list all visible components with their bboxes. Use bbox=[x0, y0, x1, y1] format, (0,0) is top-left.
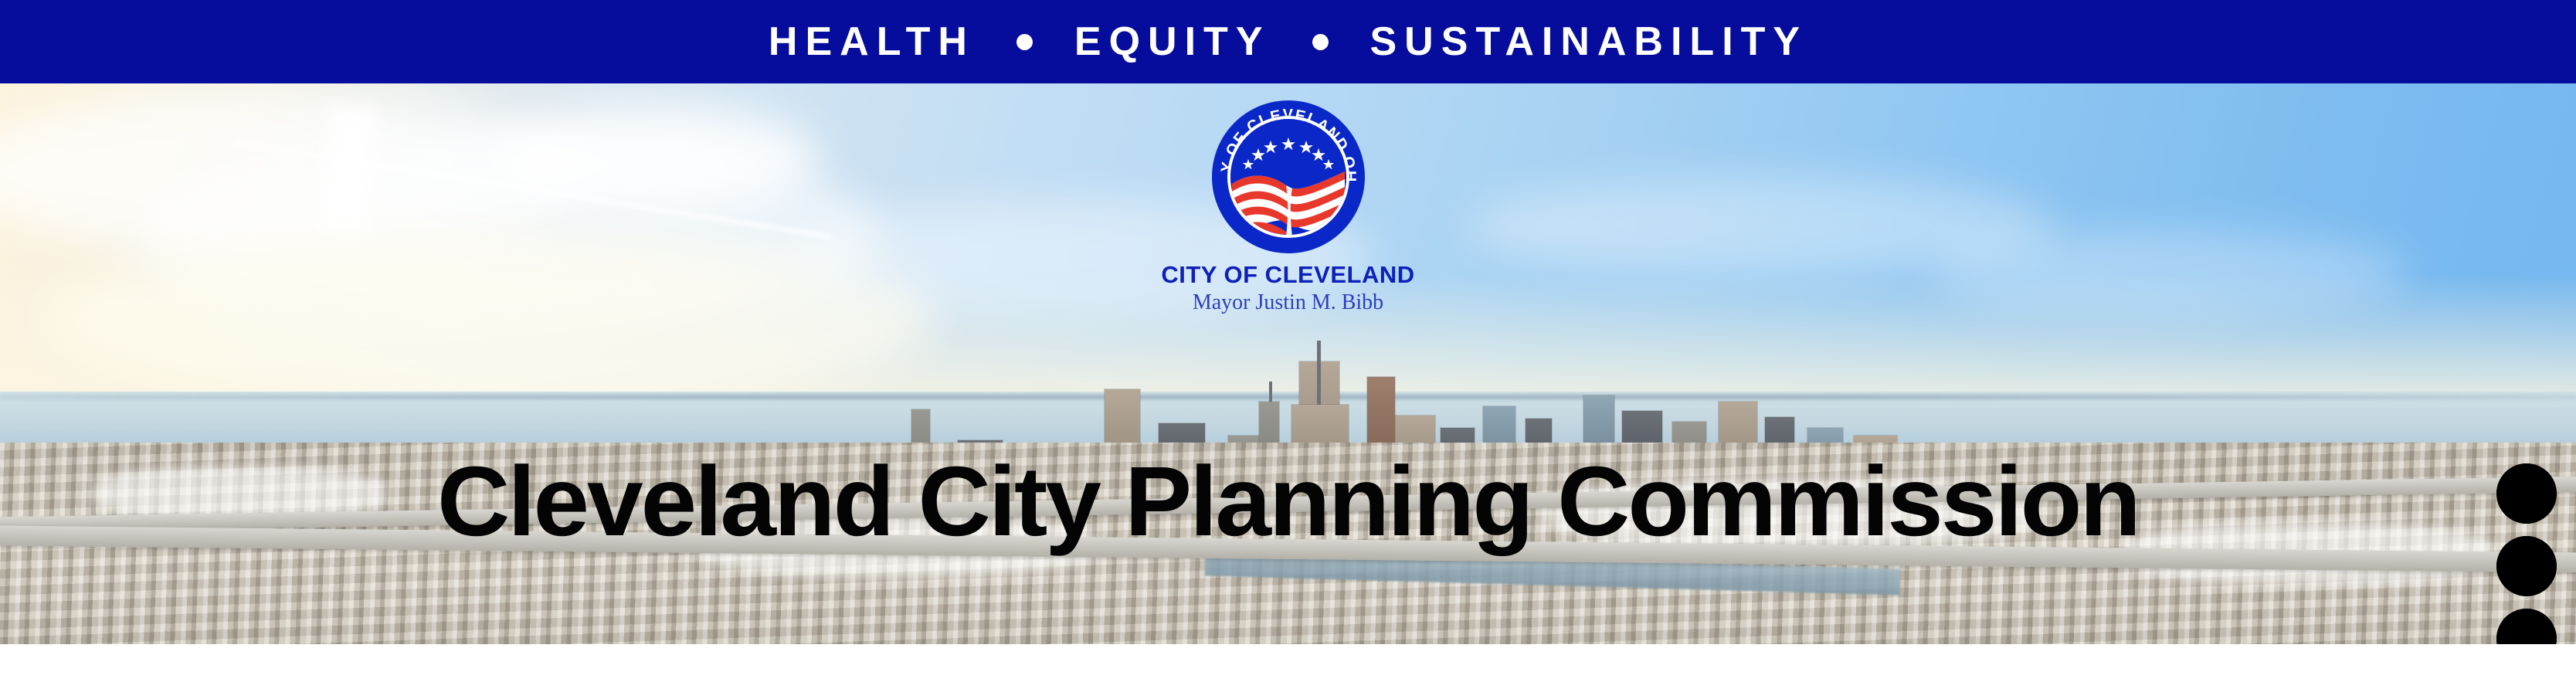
tagline-inner: HEALTH EQUITY SUSTAINABILITY bbox=[769, 22, 1807, 62]
cloud bbox=[1931, 230, 2410, 315]
hero-photo: CITY OF CLEVELAND OHIO bbox=[0, 83, 2576, 644]
instagram-link[interactable] bbox=[2496, 536, 2557, 596]
page-title: Cleveland City Planning Commission bbox=[0, 453, 2576, 551]
city-logo-lockup[interactable]: CITY OF CLEVELAND OHIO bbox=[1088, 100, 1489, 314]
city-seal-icon: CITY OF CLEVELAND OHIO bbox=[1212, 100, 1365, 253]
social-links bbox=[2496, 463, 2557, 644]
tagline-word-equity: EQUITY bbox=[1074, 22, 1271, 62]
bullet-dot-icon bbox=[1312, 34, 1329, 50]
bullet-dot-icon bbox=[1016, 34, 1033, 50]
youtube-icon bbox=[2496, 463, 2557, 524]
instagram-icon bbox=[2496, 536, 2557, 596]
youtube-link[interactable] bbox=[2496, 463, 2557, 524]
tagline-band: HEALTH EQUITY SUSTAINABILITY bbox=[0, 0, 2576, 83]
footer-white-strip bbox=[0, 644, 2576, 682]
tagline-word-sustainability: SUSTAINABILITY bbox=[1370, 22, 1808, 62]
facebook-icon bbox=[2496, 609, 2557, 644]
page-root: HEALTH EQUITY SUSTAINABILITY bbox=[0, 0, 2576, 682]
tagline-word-health: HEALTH bbox=[769, 22, 975, 62]
logo-title: CITY OF CLEVELAND bbox=[1088, 263, 1489, 288]
facebook-link[interactable] bbox=[2496, 609, 2557, 644]
logo-subtitle: Mayor Justin M. Bibb bbox=[1088, 291, 1489, 315]
